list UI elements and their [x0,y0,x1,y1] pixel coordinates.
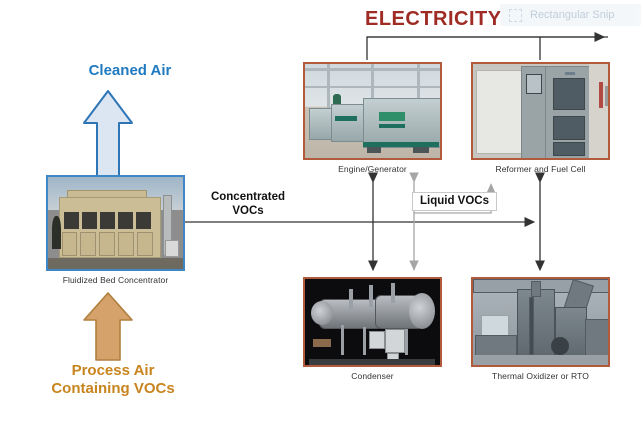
photo-reformer-and-fuel-cell [471,62,610,160]
cleaned-air-label: Cleaned Air [70,62,190,79]
caption-engine-generator: Engine/Generator [303,164,442,174]
photo-thermal-oxidizer-or-rto [471,277,610,367]
concentrated-vocs-line2: VOCs [193,204,303,218]
rectangular-snip-icon [509,9,522,22]
electricity-bus [367,37,608,60]
photo-engine-generator [303,62,442,160]
concentrated-vocs-label: Concentrated VOCs [193,190,303,218]
cleaned-air-arrow [80,88,136,180]
caption-condenser: Condenser [303,371,442,381]
photo-card-reformer-and-fuel-cell[interactable]: Reformer and Fuel Cell [471,62,610,174]
photo-fluidized-bed-concentrator [46,175,185,271]
process-air-line1: Process Air [18,362,208,380]
diagram-canvas: ELECTRICITY Rectangular Snip Cleaned Air… [0,0,641,425]
caption-thermal-oxidizer-or-rto: Thermal Oxidizer or RTO [471,371,610,381]
photo-card-engine-generator[interactable]: Engine/Generator [303,62,442,174]
rectangular-snip-label: Rectangular Snip [530,9,614,21]
concentrated-vocs-line1: Concentrated [193,190,303,204]
caption-reformer-and-fuel-cell: Reformer and Fuel Cell [471,164,610,174]
rectangular-snip-overlay[interactable]: Rectangular Snip [500,4,641,26]
process-air-line2: Containing VOCs [18,380,208,398]
photo-card-condenser[interactable]: Condenser [303,277,442,381]
electricity-title: ELECTRICITY [365,8,502,31]
photo-condenser [303,277,442,367]
photo-card-thermal-oxidizer-or-rto[interactable]: Thermal Oxidizer or RTO [471,277,610,381]
photo-card-fluidized-bed-concentrator[interactable]: Fluidized Bed Concentrator [46,175,185,285]
liquid-vocs-label: Liquid VOCs [412,192,497,211]
process-air-label: Process Air Containing VOCs [18,362,208,398]
process-air-arrow [80,290,136,362]
caption-fluidized-bed-concentrator: Fluidized Bed Concentrator [46,275,185,285]
